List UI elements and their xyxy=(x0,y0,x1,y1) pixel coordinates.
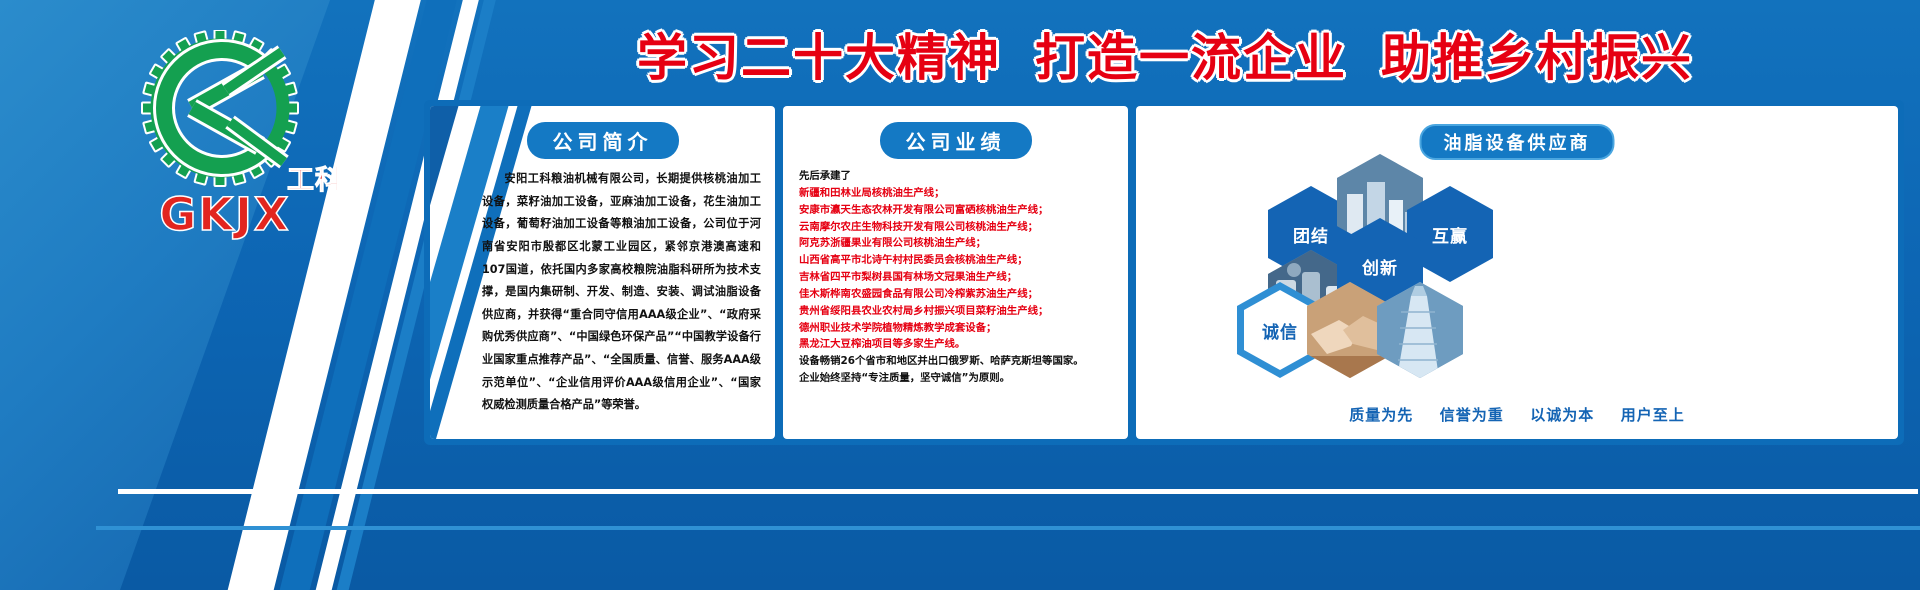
slogan-part-4: 用户至上 xyxy=(1621,406,1685,424)
slogan-part-3: 以诚为本 xyxy=(1530,406,1594,424)
performance-item: 贵州省绥阳县农业农村局乡村振兴项目菜籽油生产线； xyxy=(799,303,1118,320)
poster-headline: 学习二十大精神 打造一流企业 助推乡村振兴 xyxy=(430,16,1900,92)
panel-company-intro-heading: 公司简介 xyxy=(527,122,679,159)
panel-company-intro: 公司简介 安阳工科粮油机械有限公司，长期提供核桃油加工设备，菜籽油加工设备，亚麻… xyxy=(430,106,775,439)
content-frame: 公司简介 安阳工科粮油机械有限公司，长期提供核桃油加工设备，菜籽油加工设备，亚麻… xyxy=(424,100,1904,445)
hex-label: 创新 xyxy=(1362,254,1398,279)
hex-label: 诚信 xyxy=(1262,318,1298,343)
panel-company-intro-body: 安阳工科粮油机械有限公司，长期提供核桃油加工设备，菜籽油加工设备，亚麻油加工设备… xyxy=(482,168,761,417)
performance-item: 阿克苏浙疆果业有限公司核桃油生产线； xyxy=(799,235,1118,252)
panel-company-performance: 公司业绩 先后承建了 新疆和田林业局核桃油生产线； 安康市瀛天生态农林开发有限公… xyxy=(783,106,1128,439)
hex-label: 互赢 xyxy=(1432,222,1468,247)
performance-item: 德州职业技术学院植物精炼教学成套设备； xyxy=(799,320,1118,337)
gear-logo-icon xyxy=(133,30,308,190)
performance-footer-line: 设备畅销26个省市和地区并出口俄罗斯、哈萨克斯坦等国家。 xyxy=(799,353,1118,370)
bottom-accent-line-blue xyxy=(96,526,1920,530)
performance-item: 云南摩尔农庄生物科技开发有限公司核桃油生产线； xyxy=(799,219,1118,236)
headline-part-2: 打造一流企业 xyxy=(1035,18,1347,90)
performance-footer-line: 企业始终坚持“专注质量，坚守诚信”为原则。 xyxy=(799,370,1118,387)
performance-intro: 先后承建了 xyxy=(799,168,1118,185)
bottom-accent-line-white xyxy=(118,489,1918,494)
performance-item: 佳木斯桦南农盛园食品有限公司冷榨紫苏油生产线； xyxy=(799,286,1118,303)
slogan-part-2: 信誉为重 xyxy=(1440,406,1504,424)
performance-item: 山西省高平市北诗午村村民委员会核桃油生产线； xyxy=(799,252,1118,269)
hex-cluster: 团结 互赢 xyxy=(1136,158,1898,373)
hex-label-wrap: 诚信 xyxy=(1244,290,1316,370)
headline-part-1: 学习二十大精神 xyxy=(637,18,1001,90)
slogan-part-1: 质量为先 xyxy=(1349,406,1413,424)
performance-item: 新疆和田林业局核桃油生产线； xyxy=(799,185,1118,202)
company-logo: 工科 GKJX xyxy=(105,30,335,215)
logo-english-name: GKJX xyxy=(115,188,335,241)
poster-board: 工科 GKJX 学习二十大精神 打造一流企业 助推乡村振兴 公司简介 安阳工科粮… xyxy=(0,0,1920,590)
panel-company-performance-heading: 公司业绩 xyxy=(880,122,1032,159)
panel-supplier-heading: 油脂设备供应商 xyxy=(1420,124,1615,160)
performance-item: 黑龙江大豆榨油项目等多家生产线。 xyxy=(799,336,1118,353)
performance-item: 吉林省四平市梨树县国有林场文冠果油生产线； xyxy=(799,269,1118,286)
performance-item: 安康市瀛天生态农林开发有限公司富硒核桃油生产线； xyxy=(799,202,1118,219)
headline-part-3: 助推乡村振兴 xyxy=(1381,18,1693,90)
panel-company-performance-body: 先后承建了 新疆和田林业局核桃油生产线； 安康市瀛天生态农林开发有限公司富硒核桃… xyxy=(799,168,1118,387)
supplier-slogan: 质量为先 信誉为重 以诚为本 用户至上 xyxy=(1136,404,1898,425)
panel-supplier: 油脂设备供应商 团结 互赢 xyxy=(1136,106,1898,439)
hex-label: 团结 xyxy=(1293,222,1329,247)
